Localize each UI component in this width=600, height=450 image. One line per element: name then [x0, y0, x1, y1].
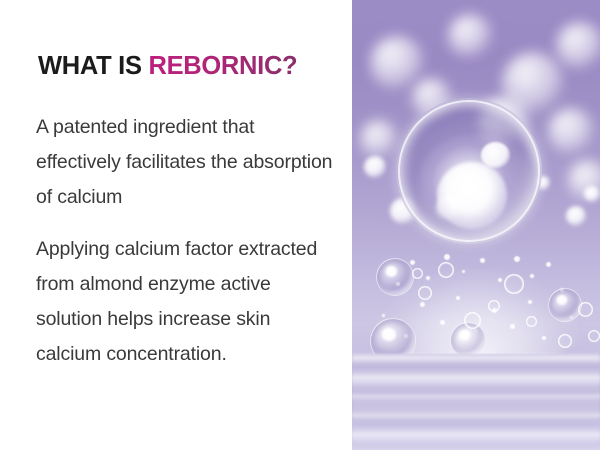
splash-bubble	[412, 268, 423, 279]
headline-accent-text: REBORNIC?	[148, 52, 297, 80]
body-paragraph-2: Applying calcium factor extracted from a…	[36, 232, 336, 372]
splash-bubble	[504, 274, 524, 294]
splash-bubble	[418, 286, 432, 300]
water-ripple-highlights	[352, 354, 600, 450]
text-panel: WHAT IS REBORNIC? A patented ingredient …	[0, 0, 352, 450]
body-paragraph-1: A patented ingredient that effectively f…	[36, 110, 336, 215]
splash-bubble	[438, 262, 454, 278]
page-title: WHAT IS REBORNIC?	[38, 52, 297, 80]
hero-bubble	[396, 98, 542, 244]
hero-bubble-specular-highlight	[481, 142, 510, 168]
product-image-panel	[352, 0, 600, 450]
headline-plain-text: WHAT IS	[38, 52, 148, 80]
splash-bubble	[526, 316, 537, 327]
splash-bubble	[464, 312, 481, 329]
splash-bubble	[588, 330, 600, 342]
hero-bubble-core-highlight	[437, 162, 507, 229]
splash-bubble	[578, 302, 593, 317]
splash-bubble	[548, 288, 582, 322]
splash-bubble	[558, 334, 572, 348]
splash-bubble	[376, 258, 414, 296]
splash-bubble	[488, 300, 500, 312]
promo-slide: WHAT IS REBORNIC? A patented ingredient …	[0, 0, 600, 450]
